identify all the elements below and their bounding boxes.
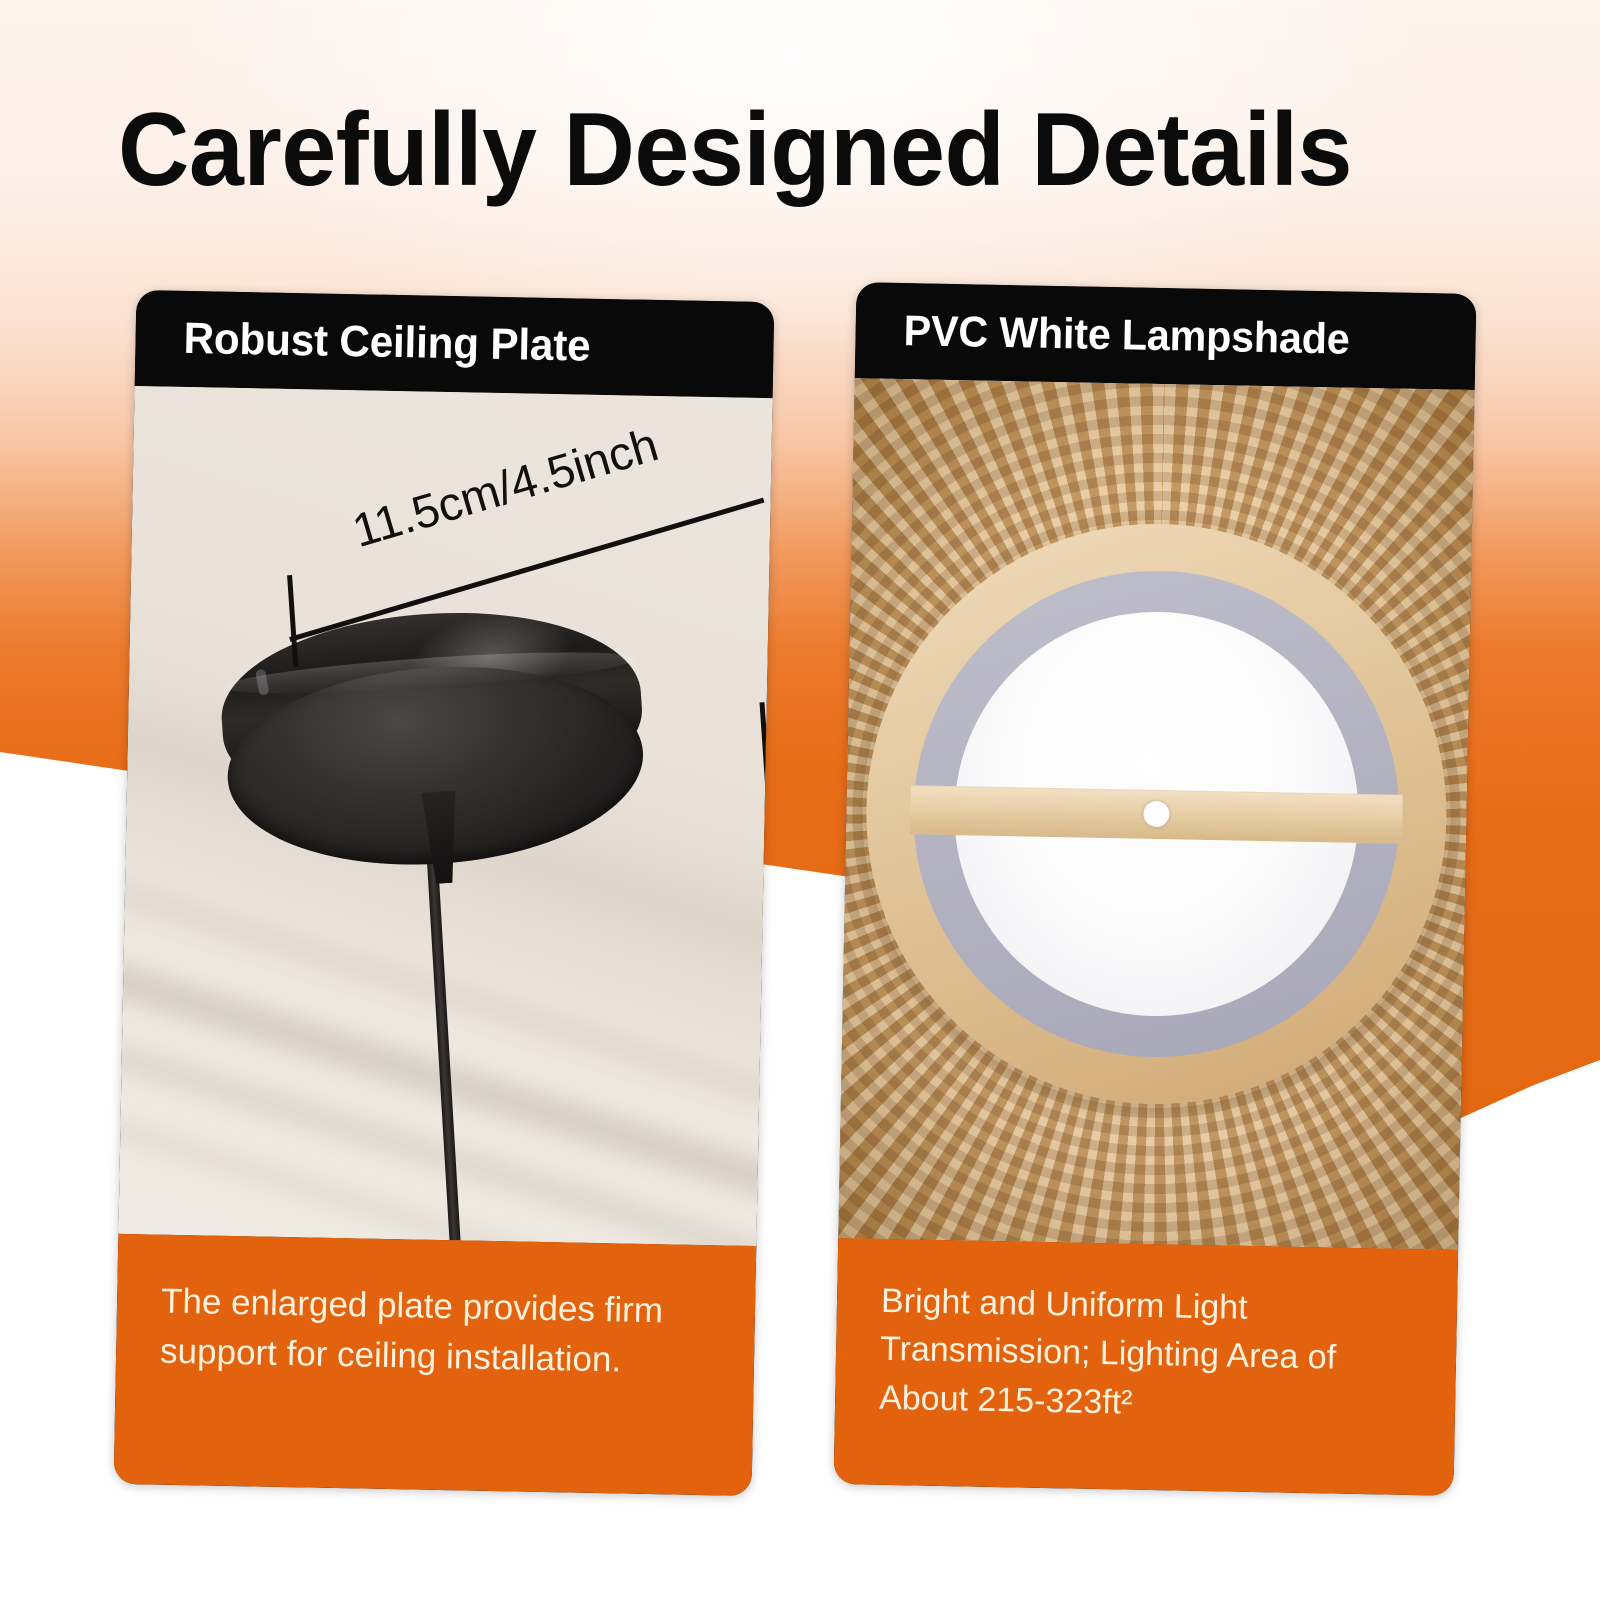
card-header-pvc-lampshade: PVC White Lampshade (855, 282, 1477, 390)
card-pvc-lampshade: PVC White Lampshade Bright and Uniform L… (834, 282, 1477, 1496)
photo-ceiling-plate: 11.5cm/4.5inch (118, 386, 772, 1246)
dimension-tick-left (287, 575, 298, 667)
caption-text-ceiling-plate: The enlarged plate provides firm support… (160, 1277, 716, 1387)
pendant-cord (426, 843, 462, 1246)
card-caption-pvc-lampshade: Bright and Uniform Light Transmission; L… (834, 1238, 1459, 1496)
card-header-label-ceiling-plate: Robust Ceiling Plate (183, 314, 591, 372)
card-header-label-pvc-lampshade: PVC White Lampshade (903, 307, 1350, 365)
card-header-ceiling-plate: Robust Ceiling Plate (135, 290, 775, 398)
caption-text-pvc-lampshade: Bright and Uniform Light Transmission; L… (879, 1277, 1418, 1432)
infographic-canvas: Carefully Designed Details Robust Ceilin… (0, 0, 1600, 1600)
ceiling-background: 11.5cm/4.5inch (118, 386, 772, 1246)
page-title: Carefully Designed Details (118, 96, 1467, 205)
photo-pvc-lampshade (838, 378, 1474, 1250)
card-caption-ceiling-plate: The enlarged plate provides firm support… (114, 1234, 757, 1496)
card-ceiling-plate: Robust Ceiling Plate (114, 290, 775, 1496)
dimension-annotation: 11.5cm/4.5inch (278, 485, 772, 735)
dimension-label: 11.5cm/4.5inch (346, 416, 664, 558)
lampshade-background (838, 378, 1474, 1250)
